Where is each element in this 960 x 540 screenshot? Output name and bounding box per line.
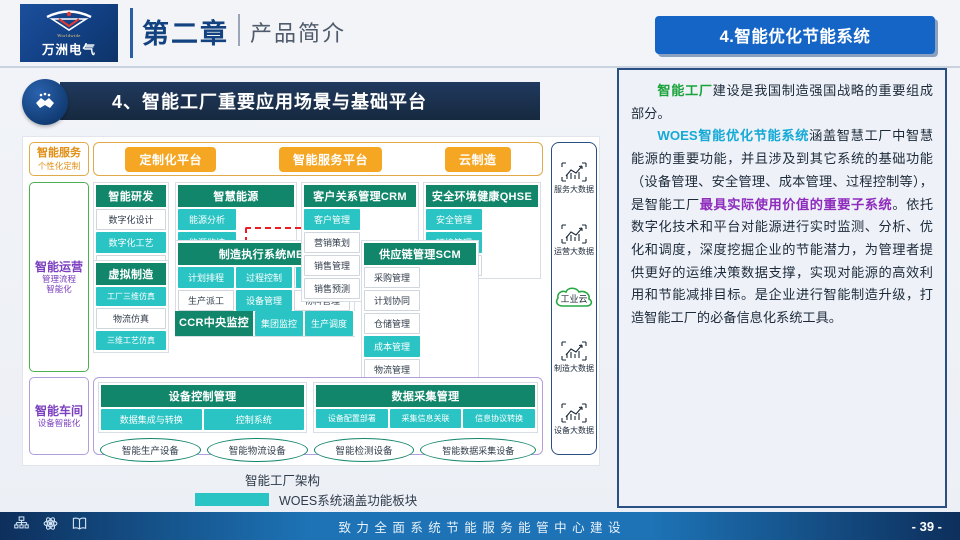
- bigdata-item-manufacturing[interactable]: 制造大数据: [554, 340, 594, 374]
- side-tag-smart-operation-title: 智能运营: [35, 260, 83, 274]
- cell-qhse-0[interactable]: 安全管理: [426, 209, 482, 230]
- logo-sub-text: Worldwide: [57, 33, 80, 38]
- paragraph-1: 智能工厂建设是我国制造强国战略的重要组成部分。: [631, 80, 933, 125]
- module-ccr[interactable]: CCR中央监控 集团监控 生产调度: [175, 311, 355, 336]
- cell-mes-1[interactable]: 过程控制: [236, 267, 292, 288]
- oval-inspection-equipment[interactable]: 智能检测设备: [314, 438, 415, 462]
- chart-icon: [560, 223, 588, 245]
- side-tag-smart-operation-sub-a: 管理流程: [42, 274, 76, 284]
- cell-ccr-0[interactable]: 集团监控: [255, 311, 303, 336]
- cell-crm-1[interactable]: 营销策划: [304, 232, 360, 253]
- logo-mark-icon: [43, 8, 95, 32]
- diagram-legend: WOES系统涵盖功能板块: [195, 490, 417, 509]
- side-tag-smart-operation-sub-b: 智能化: [46, 284, 72, 294]
- handshake-icon: [22, 79, 68, 125]
- module-data-acquisition-title: 数据采集管理: [316, 385, 535, 407]
- cell-mes-4[interactable]: 生产派工: [178, 290, 234, 311]
- bigdata-item-equipment[interactable]: 设备大数据: [554, 402, 594, 436]
- oval-production-equipment[interactable]: 智能生产设备: [100, 438, 201, 462]
- bigdata-label-manufacturing: 制造大数据: [554, 363, 594, 374]
- platform-pill-cloud-mfg[interactable]: 云制造: [445, 147, 511, 172]
- cell-mes-5[interactable]: 设备管理: [236, 290, 292, 311]
- cell-scm-0[interactable]: 采购管理: [364, 267, 420, 288]
- platform-row: 定制化平台 智能服务平台 云制造: [93, 142, 543, 176]
- bigdata-item-operation[interactable]: 运营大数据: [554, 223, 594, 257]
- side-tag-smart-service-sub: 个性化定制: [38, 161, 81, 171]
- oval-data-collection-equipment[interactable]: 智能数据采集设备: [420, 438, 536, 462]
- slide-footer: 致 力 全 面 系 统 节 能 服 务 能 管 中 心 建 设 - 39 -: [0, 512, 960, 540]
- paragraph-2: WOES智能优化节能系统涵盖智慧工厂中智慧能源的重要功能，并且涉及到其它系统的基…: [631, 125, 933, 329]
- cell-vm-1[interactable]: 物流仿真: [96, 308, 166, 329]
- footer-page-number: - 39 -: [912, 519, 942, 534]
- side-tag-smart-operation: 智能运营 管理流程 智能化: [29, 182, 89, 372]
- middle-region: 智能研发 数字化设计 数字化工艺 数字化作业 虚拟制造 工厂三维仿真 物流仿真 …: [93, 182, 543, 372]
- chart-icon: [560, 161, 588, 183]
- chapter-title: 第二章: [142, 12, 229, 51]
- side-tag-smart-service-title: 智能服务: [37, 147, 81, 160]
- cell-scm-2[interactable]: 仓储管理: [364, 313, 420, 334]
- cell-rd-0[interactable]: 数字化设计: [96, 209, 166, 230]
- module-scm-title: 供应链管理SCM: [364, 243, 476, 265]
- cell-crm-3[interactable]: 销售预测: [304, 278, 360, 299]
- module-virtual-mfg[interactable]: 虚拟制造 工厂三维仿真 物流仿真 三维工艺仿真: [93, 260, 169, 353]
- module-qhse-title: 安全环境健康QHSE: [426, 185, 538, 207]
- bigdata-label-operation: 运营大数据: [554, 246, 594, 257]
- chapter-subtitle: 产品简介: [250, 16, 346, 48]
- cell-scm-3[interactable]: 成本管理: [364, 336, 420, 357]
- cell-dataacq-1[interactable]: 采集信息关联: [390, 409, 462, 428]
- cell-vm-2[interactable]: 三维工艺仿真: [96, 331, 166, 350]
- header-separator: [130, 8, 133, 58]
- company-logo: Worldwide 万洲电气: [20, 4, 118, 62]
- module-smart-energy-title: 智慧能源: [178, 185, 294, 207]
- chapter-divider: [238, 14, 240, 46]
- module-ccr-title: CCR中央监控: [175, 311, 253, 336]
- platform-pill-custom[interactable]: 定制化平台: [125, 147, 216, 172]
- bigdata-column: 服务大数据 运营大数据 工业云: [551, 142, 597, 455]
- side-tag-smart-workshop: 智能车间 设备智能化: [29, 377, 89, 455]
- industrial-cloud-item[interactable]: 工业云: [553, 284, 595, 312]
- side-tag-smart-workshop-sub: 设备智能化: [38, 418, 81, 428]
- section-title: 4、智能工厂重要应用场景与基础平台: [60, 82, 540, 120]
- cell-rd-1[interactable]: 数字化工艺: [96, 232, 166, 253]
- cell-ccr-1[interactable]: 生产调度: [305, 311, 353, 336]
- bigdata-label-service: 服务大数据: [554, 184, 594, 195]
- module-virtual-mfg-title: 虚拟制造: [96, 263, 166, 285]
- logo-company-name: 万洲电气: [42, 39, 96, 58]
- cell-vm-0[interactable]: 工厂三维仿真: [96, 287, 166, 306]
- cell-devctl-0[interactable]: 数据集成与转换: [101, 409, 202, 430]
- cloud-icon: 工业云: [553, 284, 595, 312]
- cell-dataacq-0[interactable]: 设备配置部署: [316, 409, 388, 428]
- module-crm-title: 客户关系管理CRM: [304, 185, 416, 207]
- bigdata-label-equipment: 设备大数据: [554, 425, 594, 436]
- legend-label: WOES系统涵盖功能板块: [279, 490, 417, 509]
- side-tag-smart-workshop-title: 智能车间: [35, 404, 83, 418]
- cell-scm-1[interactable]: 计划协同: [364, 290, 420, 311]
- keyword-woes: WOES智能优化节能系统: [657, 128, 809, 143]
- cell-crm-2[interactable]: 销售管理: [304, 255, 360, 276]
- module-device-control[interactable]: 设备控制管理 数据集成与转换 控制系统: [98, 382, 307, 433]
- chart-icon: [560, 402, 588, 424]
- bigdata-item-service[interactable]: 服务大数据: [554, 161, 594, 195]
- slide-root: Worldwide 万洲电气 第二章 产品简介 4、智能工厂重要应用场景与基础平…: [0, 0, 960, 540]
- cell-mes-0[interactable]: 计划排程: [178, 267, 234, 288]
- cell-devctl-1[interactable]: 控制系统: [204, 409, 305, 430]
- right-panel-body: 智能工厂建设是我国制造强国战略的重要组成部分。 WOES智能优化节能系统涵盖智慧…: [617, 68, 947, 508]
- diagram-caption: 智能工厂架构: [245, 470, 320, 489]
- keyword-smart-factory: 智能工厂: [657, 83, 712, 98]
- workshop-region: 设备控制管理 数据集成与转换 控制系统 数据采集管理 设备配置部署 采集信息关联…: [93, 377, 543, 455]
- cell-dataacq-2[interactable]: 信息协议转换: [463, 409, 535, 428]
- platform-pill-service[interactable]: 智能服务平台: [279, 147, 382, 172]
- smart-factory-architecture-diagram: 智能服务 个性化定制 智能运营 管理流程 智能化 智能车间 设备智能化 定制化平…: [22, 136, 600, 466]
- cell-energy-0[interactable]: 能源分析: [178, 209, 236, 230]
- side-tag-smart-service: 智能服务 个性化定制: [29, 142, 89, 176]
- footer-slogan: 致 力 全 面 系 统 节 能 服 务 能 管 中 心 建 设: [0, 517, 960, 536]
- module-rd-title: 智能研发: [96, 185, 166, 207]
- industrial-cloud-label: 工业云: [560, 294, 587, 304]
- cell-crm-0[interactable]: 客户管理: [304, 209, 360, 230]
- right-panel-title: 4.智能优化节能系统: [655, 16, 935, 54]
- module-data-acquisition[interactable]: 数据采集管理 设备配置部署 采集信息关联 信息协议转换: [313, 382, 538, 433]
- module-device-control-title: 设备控制管理: [101, 385, 304, 407]
- chart-icon: [560, 340, 588, 362]
- paragraph-2-b: 。依托数字化技术和平台对能源进行实时监测、分析、优化和调度，深度挖掘企业的节能潜…: [631, 197, 933, 326]
- keyword-most-valuable: 最具实际使用价值的重要子系统: [700, 197, 893, 212]
- legend-swatch: [195, 493, 269, 506]
- oval-logistics-equipment[interactable]: 智能物流设备: [207, 438, 308, 462]
